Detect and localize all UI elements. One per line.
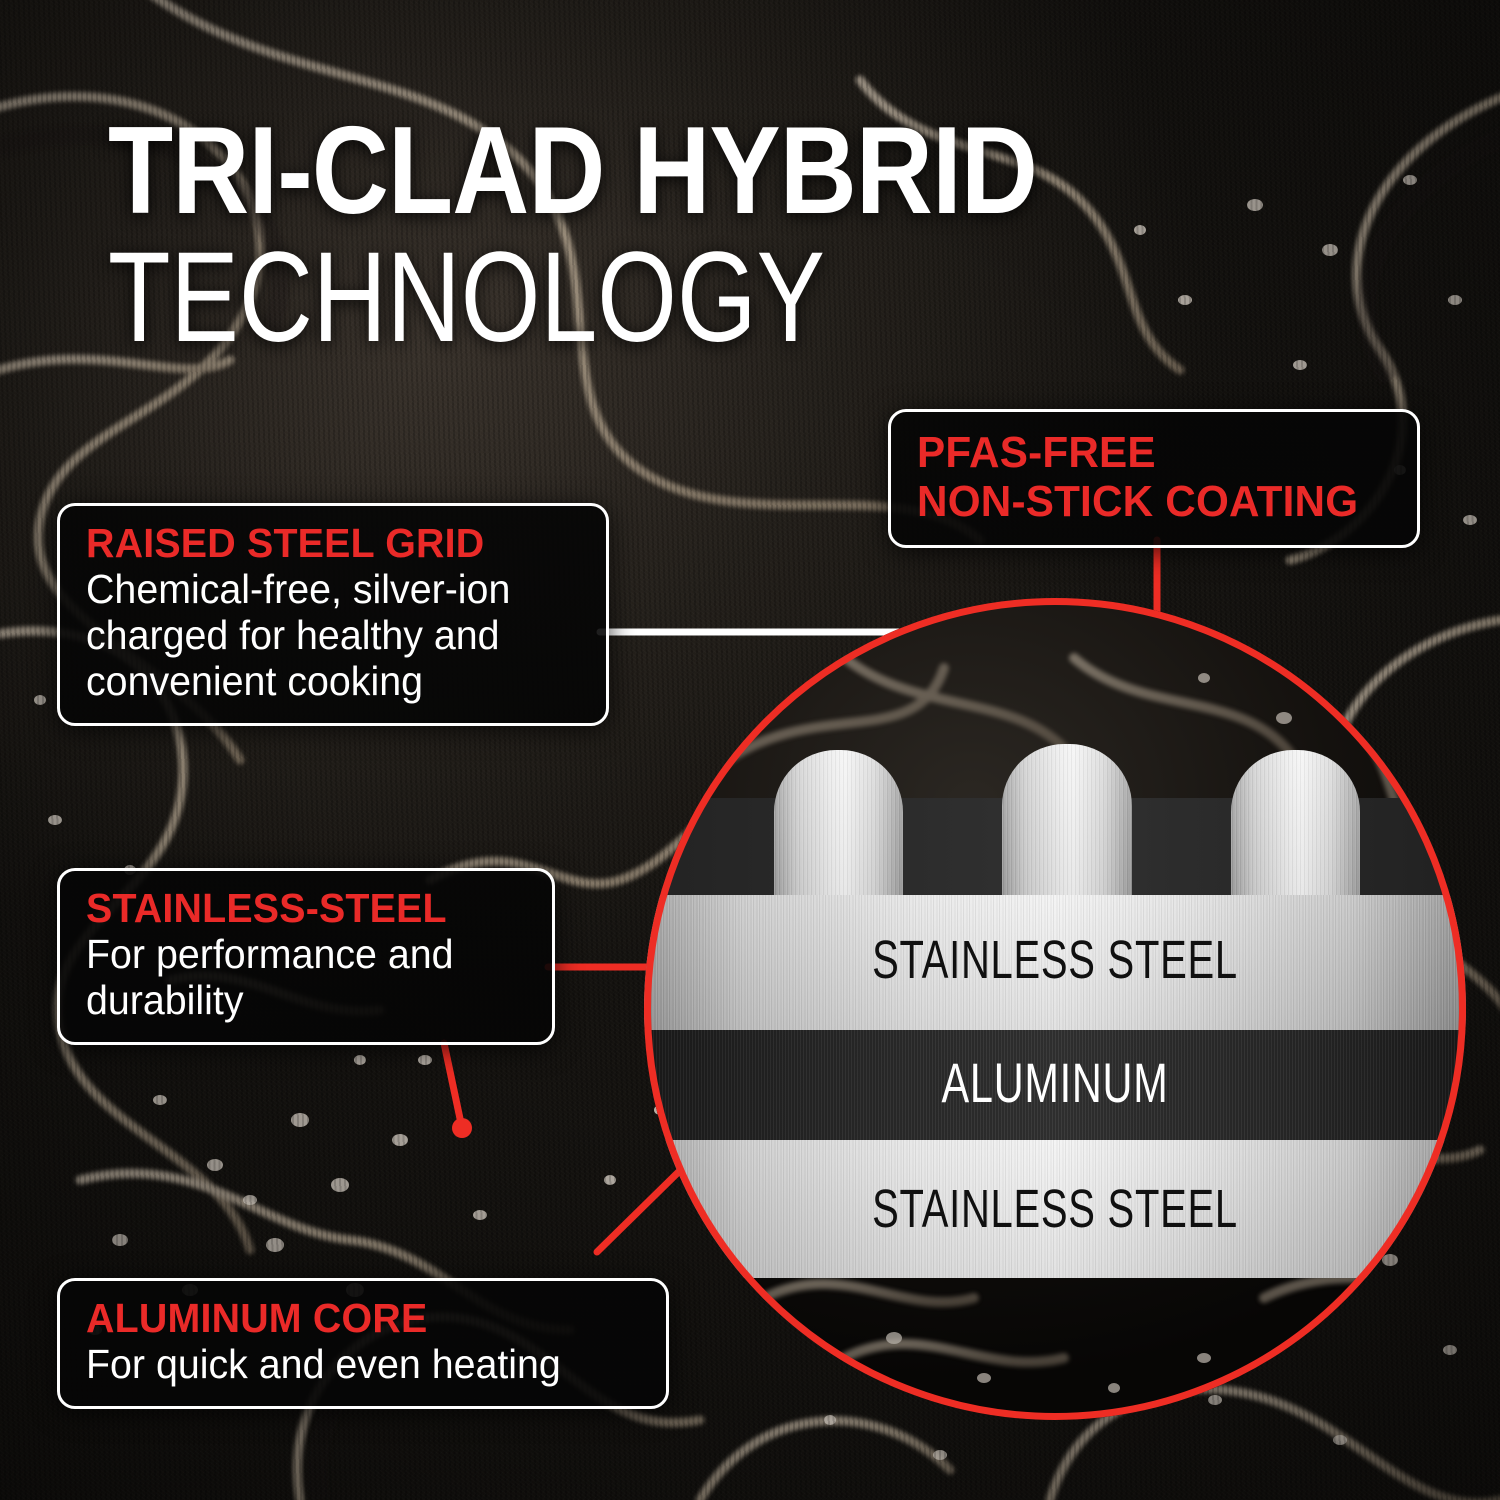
callout-body-raised-steel-grid: Chemical-free, silver-ion charged for he… [86, 567, 564, 705]
layer-stainless-steel-bottom: STAINLESS STEEL [644, 1140, 1466, 1278]
callout-aluminum-core[interactable]: ALUMINUM CORE For quick and even heating [57, 1278, 669, 1409]
callout-heading-pfas-free-line2: NON-STICK COATING [917, 477, 1376, 526]
title-line-1: TRI-CLAD HYBRID [108, 112, 1123, 231]
layer-stainless-steel-top: STAINLESS STEEL [644, 895, 1466, 1030]
raised-grid-bump-1 [774, 750, 903, 895]
callout-heading-raised-steel-grid: RAISED STEEL GRID [86, 522, 564, 565]
diagram-disc: STAINLESS STEEL ALUMINUM STAINLESS STEEL [644, 598, 1466, 1420]
callout-pfas-free[interactable]: PFAS-FREE NON-STICK COATING [888, 409, 1420, 548]
callout-body-stainless-steel: For performance and durability [86, 932, 512, 1024]
layer-label-stainless-steel-top: STAINLESS STEEL [751, 929, 1359, 991]
layer-aluminum-core: ALUMINUM [644, 1030, 1466, 1140]
callout-stainless-steel[interactable]: STAINLESS-STEEL For performance and dura… [57, 868, 555, 1045]
title-line-2: TECHNOLOGY [108, 235, 1052, 360]
callout-heading-pfas-free-line1: PFAS-FREE [917, 428, 1376, 477]
page-title: TRI-CLAD HYBRID TECHNOLOGY [108, 112, 1288, 360]
callout-raised-steel-grid[interactable]: RAISED STEEL GRID Chemical-free, silver-… [57, 503, 609, 726]
raised-grid-bump-3 [1231, 750, 1360, 895]
raised-grid-bump-2 [1002, 744, 1132, 895]
callout-body-aluminum-core: For quick and even heating [86, 1342, 622, 1388]
infographic-canvas: STAINLESS STEEL ALUMINUM STAINLESS STEEL… [0, 0, 1500, 1500]
layer-label-aluminum: ALUMINUM [751, 1050, 1359, 1115]
layer-label-stainless-steel-bottom: STAINLESS STEEL [751, 1178, 1359, 1240]
tri-clad-cross-section-diagram: STAINLESS STEEL ALUMINUM STAINLESS STEEL [644, 598, 1466, 1420]
callout-heading-aluminum-core: ALUMINUM CORE [86, 1297, 622, 1340]
callout-heading-stainless-steel: STAINLESS-STEEL [86, 887, 512, 930]
